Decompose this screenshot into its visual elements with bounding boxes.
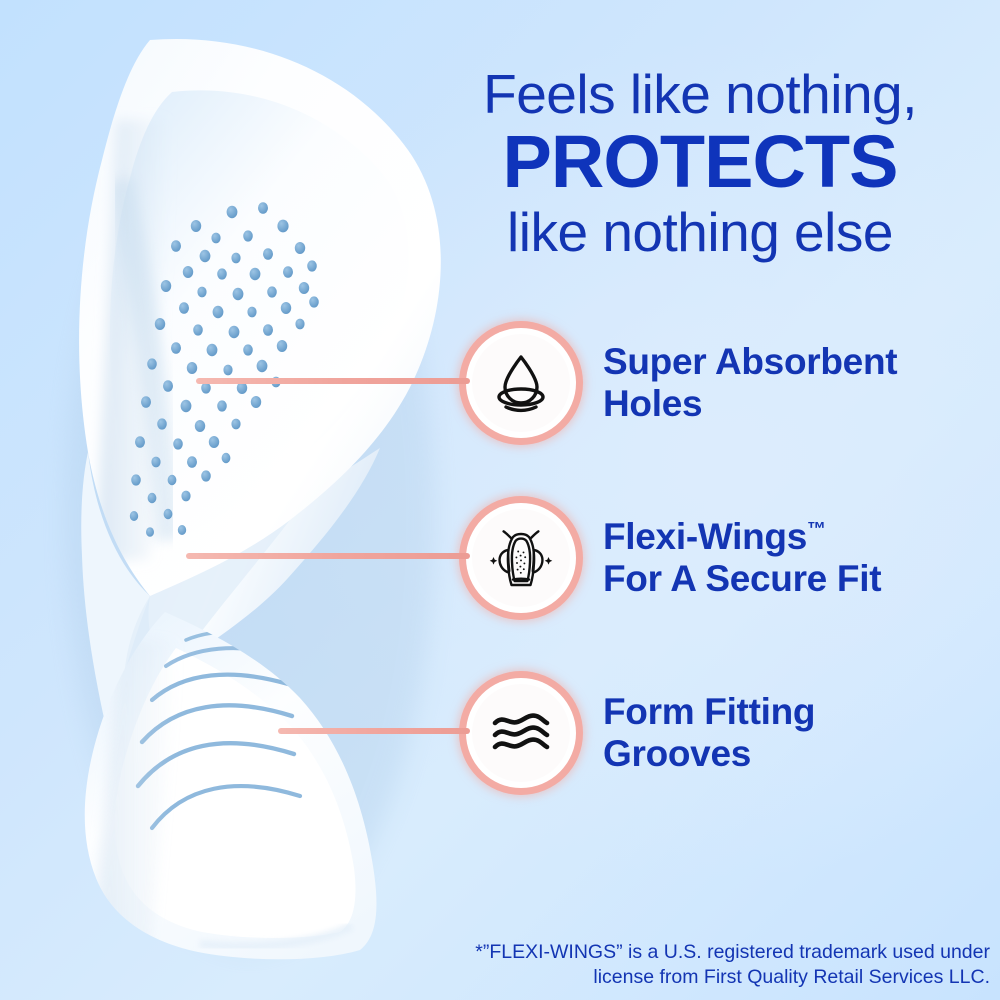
- feature-label-line-2: For A Secure Fit: [603, 558, 881, 600]
- trademark-symbol: ™: [807, 519, 826, 540]
- feature-label-line-1: Super Absorbent: [603, 341, 897, 383]
- connector-line-super-absorbent-holes: [196, 378, 470, 384]
- feature-label: Super Absorbent Holes: [603, 341, 897, 425]
- headline-line-3: like nothing else: [420, 204, 980, 260]
- feature-label: Form Fitting Grooves: [603, 691, 815, 775]
- feature-flexi-wings[interactable]: Flexi-Wings™ For A Secure Fit: [466, 503, 881, 613]
- feature-label-line-1: Form Fitting: [603, 691, 815, 733]
- headline-block: Feels like nothing, PROTECTS like nothin…: [420, 66, 980, 260]
- disclaimer-line-1: *”FLEXI-WINGS” is a U.S. registered trad…: [390, 940, 990, 965]
- headline-line-2-protects: PROTECTS: [420, 124, 980, 199]
- headline-line-1: Feels like nothing,: [420, 66, 980, 122]
- feature-label-line-1: Flexi-Wings™: [603, 516, 881, 558]
- trademark-disclaimer: *”FLEXI-WINGS” is a U.S. registered trad…: [390, 940, 990, 989]
- connector-line-flexi-wings: [186, 553, 470, 559]
- feature-label-line-2: Holes: [603, 383, 897, 425]
- infographic-canvas: Feels like nothing, PROTECTS like nothin…: [0, 0, 1000, 1000]
- feature-label: Flexi-Wings™ For A Secure Fit: [603, 516, 881, 600]
- disclaimer-line-2: license from First Quality Retail Servic…: [390, 965, 990, 990]
- feature-icon-badge: [466, 678, 576, 788]
- water-drop-absorption-icon: [485, 347, 557, 419]
- connector-line-form-fitting-grooves: [278, 728, 470, 734]
- feature-form-fitting-grooves[interactable]: Form Fitting Grooves: [466, 678, 815, 788]
- feature-icon-badge: [466, 328, 576, 438]
- pad-with-wings-icon: [484, 521, 558, 595]
- feature-label-line-2: Grooves: [603, 733, 815, 775]
- feature-super-absorbent-holes[interactable]: Super Absorbent Holes: [466, 328, 897, 438]
- feature-icon-badge: [466, 503, 576, 613]
- wavy-grooves-icon: [485, 697, 557, 769]
